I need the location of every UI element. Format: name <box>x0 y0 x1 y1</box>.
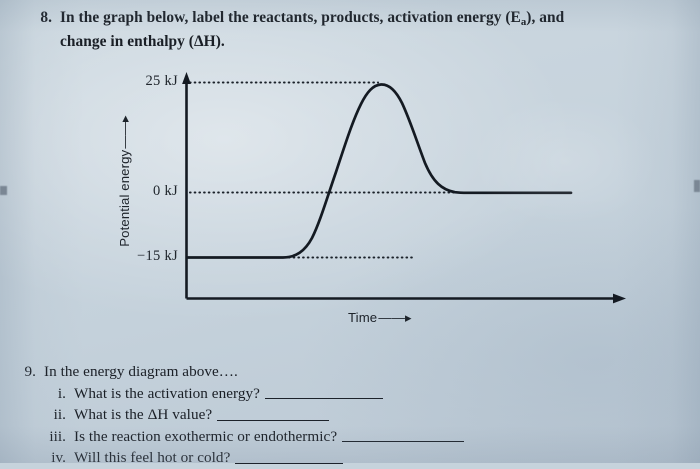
y-axis-title: Potential energy ——▸ <box>117 115 133 246</box>
x-axis-arrow-icon: ——▸ <box>377 310 412 325</box>
item-text-ii: What is the ΔH value? <box>74 404 329 426</box>
question-9-header: 9. In the energy diagram above…. <box>14 361 694 383</box>
item-label-i: What is the activation energy? <box>74 385 260 402</box>
question-9-item-iii: iii. Is the reaction exothermic or endot… <box>14 426 694 448</box>
y-axis <box>182 72 191 299</box>
item-numeral-iii: iii. <box>44 426 66 448</box>
item-text-i: What is the activation energy? <box>74 383 383 405</box>
energy-diagram: 25 kJ 0 kJ −15 kJ Potential energy ——▸ T… <box>0 0 700 345</box>
item-text-iii: Is the reaction exothermic or endothermi… <box>74 426 464 448</box>
item-label-iv: Will this feel hot or cold? <box>74 449 230 466</box>
y-axis-arrow-icon: ——▸ <box>117 115 132 150</box>
question-9-item-i: i. What is the activation energy? <box>14 383 694 405</box>
y-label-25kj: 25 kJ <box>104 73 178 90</box>
item-numeral-i: i. <box>44 383 66 405</box>
item-numeral-iv: iv. <box>44 447 66 469</box>
question-9-item-ii: ii. What is the ΔH value? <box>14 404 694 426</box>
item-text-iv: Will this feel hot or cold? <box>74 447 343 469</box>
y-axis-title-text: Potential energy <box>117 150 132 247</box>
question-9-title: In the energy diagram above…. <box>44 361 238 383</box>
question-9-item-iv: iv. Will this feel hot or cold? <box>14 447 694 469</box>
answer-blank-i[interactable] <box>265 384 383 399</box>
question-9: 9. In the energy diagram above…. i. What… <box>14 361 694 469</box>
y-label-neg15kj: −15 kJ <box>98 248 178 265</box>
reaction-pathway-curve <box>187 84 571 257</box>
item-label-ii: What is the ΔH value? <box>74 406 212 423</box>
answer-blank-ii[interactable] <box>217 406 329 421</box>
y-axis-title-wrap: Potential energy ——▸ <box>113 96 137 266</box>
answer-blank-iii[interactable] <box>342 427 464 442</box>
energy-diagram-svg <box>0 0 700 345</box>
x-axis-title-text: Time <box>348 310 377 325</box>
question-9-number: 9. <box>14 361 36 383</box>
x-axis <box>187 294 627 304</box>
x-axis-title: Time ——▸ <box>348 310 412 326</box>
answer-blank-iv[interactable] <box>235 449 343 464</box>
item-label-iii: Is the reaction exothermic or endothermi… <box>74 428 337 445</box>
item-numeral-ii: ii. <box>44 404 66 426</box>
